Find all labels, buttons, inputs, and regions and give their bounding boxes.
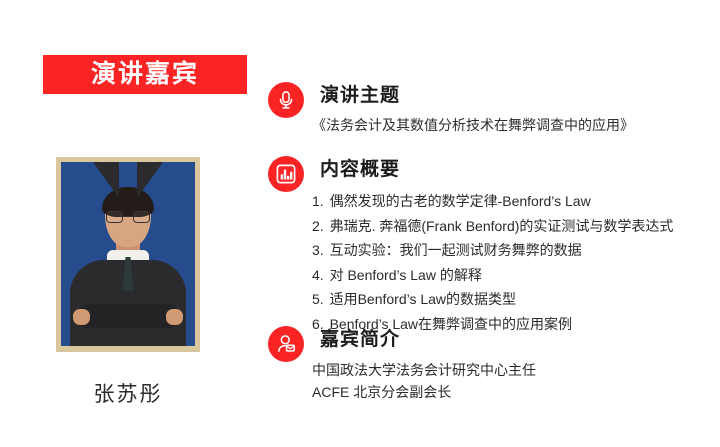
list-item-text: 对 Benford’s Law 的解释: [330, 267, 482, 283]
list-item-text: 弗瑞克. 奔福德(Frank Benford)的实证测试与数学表达式: [330, 218, 674, 234]
bar-chart-icon: [268, 156, 304, 192]
section-outline-body: 1. 偶然发现的古老的数学定律-Benford’s Law 2. 弗瑞克. 奔福…: [312, 189, 720, 336]
section-topic-body: 《法务会计及其数值分析技术在舞弊调查中的应用》: [312, 115, 720, 135]
list-item: 5. 适用Benford’s Law的数据类型: [312, 287, 720, 312]
speaker-portrait: [61, 162, 195, 346]
section-banner: 演讲嘉宾: [43, 55, 247, 94]
list-item: 2. 弗瑞克. 奔福德(Frank Benford)的实证测试与数学表达式: [312, 214, 720, 239]
list-item: 3. 互动实验：我们一起测试财务舞弊的数据: [312, 238, 720, 263]
section-topic-title: 演讲主题: [320, 83, 400, 109]
list-item-text: 偶然发现的古老的数学定律-Benford’s Law: [330, 193, 591, 209]
glasses-bridge: [123, 216, 133, 218]
portrait-hand-left: [73, 309, 90, 325]
list-item-number: 1.: [312, 193, 324, 209]
glasses-lens-right: [133, 211, 150, 223]
list-item-number: 5.: [312, 291, 324, 307]
portrait-crossed-arms: [76, 304, 180, 328]
microphone-icon: [268, 82, 304, 118]
bio-line: 中国政法大学法务会计研究中心主任: [312, 359, 720, 381]
list-item-number: 3.: [312, 242, 324, 258]
section-bio-body: 中国政法大学法务会计研究中心主任 ACFE 北京分会副会长: [312, 359, 720, 403]
topic-text: 《法务会计及其数值分析技术在舞弊调查中的应用》: [312, 115, 720, 135]
bio-line: ACFE 北京分会副会长: [312, 381, 720, 403]
speaker-name: 张苏彤: [56, 378, 200, 408]
list-item-number: 4.: [312, 267, 324, 283]
left-column: 演讲嘉宾 张苏彤: [0, 0, 262, 447]
glasses-lens-left: [106, 211, 123, 223]
list-item: 4. 对 Benford’s Law 的解释: [312, 263, 720, 288]
list-item-text: 互动实验：我们一起测试财务舞弊的数据: [330, 242, 582, 258]
banner-label: 演讲嘉宾: [91, 62, 199, 87]
right-column: 演讲主题 《法务会计及其数值分析技术在舞弊调查中的应用》 内容概要: [262, 0, 720, 447]
list-item-text: 适用Benford’s Law的数据类型: [330, 291, 516, 307]
outline-list: 1. 偶然发现的古老的数学定律-Benford’s Law 2. 弗瑞克. 奔福…: [312, 189, 720, 336]
list-item: 1. 偶然发现的古老的数学定律-Benford’s Law: [312, 189, 720, 214]
speaker-slide: 演讲嘉宾 张苏彤: [0, 0, 720, 447]
section-outline-title: 内容概要: [320, 157, 400, 183]
list-item-number: 2.: [312, 218, 324, 234]
section-bio-title: 嘉宾简介: [320, 327, 400, 353]
portrait-glasses: [106, 211, 150, 224]
profile-card-icon: [268, 326, 304, 362]
portrait-hand-right: [166, 309, 183, 325]
speaker-photo-frame: [56, 157, 200, 352]
